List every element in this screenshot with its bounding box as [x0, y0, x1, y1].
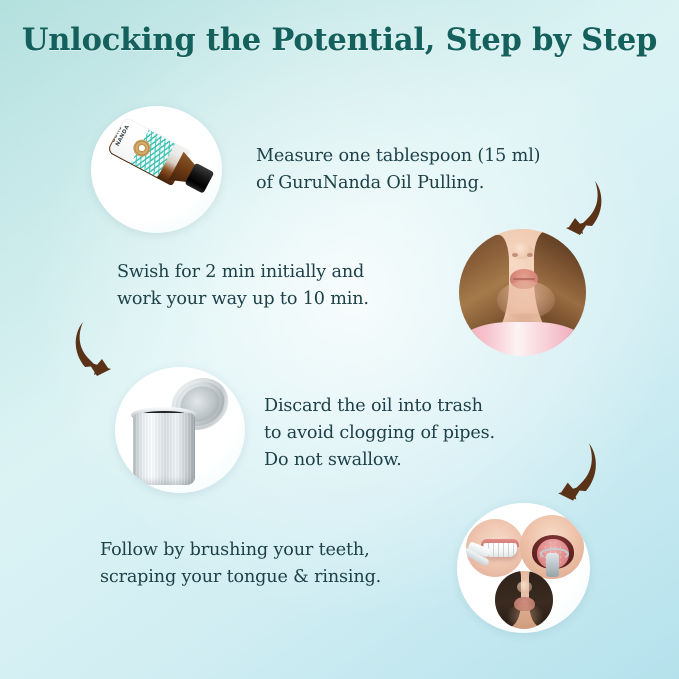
rinse-puffed-cheeks — [503, 605, 547, 629]
oil-bottle: GURU NANDA — [91, 106, 222, 233]
step-4-image-oral-care-collage — [457, 503, 590, 633]
step-1-text: Measure one tablespoon (15 ml) of GuruNa… — [256, 143, 540, 197]
step-1-image-bottle-pouring: GURU NANDA — [91, 106, 222, 233]
step-3-text: Discard the oil into trash to avoid clog… — [264, 393, 495, 474]
arrow-step2-to-step3-icon — [68, 318, 130, 385]
collage-tongue-scraping — [520, 515, 584, 579]
step-3-line-1: Discard the oil into trash — [264, 393, 495, 420]
nostril-left — [512, 253, 518, 257]
pink-shirt — [459, 322, 586, 356]
step-2-line-2: work your way up to 10 min. — [117, 286, 369, 313]
step-3-line-2: to avoid clogging of pipes. — [264, 420, 495, 447]
step-4-text: Follow by brushing your teeth, scraping … — [100, 537, 381, 591]
step-1-line-2: of GuruNanda Oil Pulling. — [256, 170, 540, 197]
collage-rinsing — [495, 571, 553, 629]
step-4-line-2: scraping your tongue & rinsing. — [100, 564, 381, 591]
trash-can-body — [133, 413, 195, 485]
rinse-nose — [517, 581, 532, 593]
step-3-image-trash-can — [115, 367, 245, 493]
infographic-poster: Unlocking the Potential, Step by Step GU… — [0, 0, 679, 679]
page-title: Unlocking the Potential, Step by Step — [0, 22, 679, 58]
nostril-right — [527, 253, 533, 257]
step-2-line-1: Swish for 2 min initially and — [117, 259, 369, 286]
step-2-image-girl-swishing — [459, 229, 586, 356]
arrow-step3-to-step4-icon — [539, 440, 605, 511]
step-3-line-3: Do not swallow. — [264, 447, 495, 474]
step-2-text: Swish for 2 min initially and work your … — [117, 259, 369, 313]
collage-brushing-teeth — [466, 519, 524, 577]
step-4-line-1: Follow by brushing your teeth, — [100, 537, 381, 564]
step-1-line-1: Measure one tablespoon (15 ml) — [256, 143, 540, 170]
